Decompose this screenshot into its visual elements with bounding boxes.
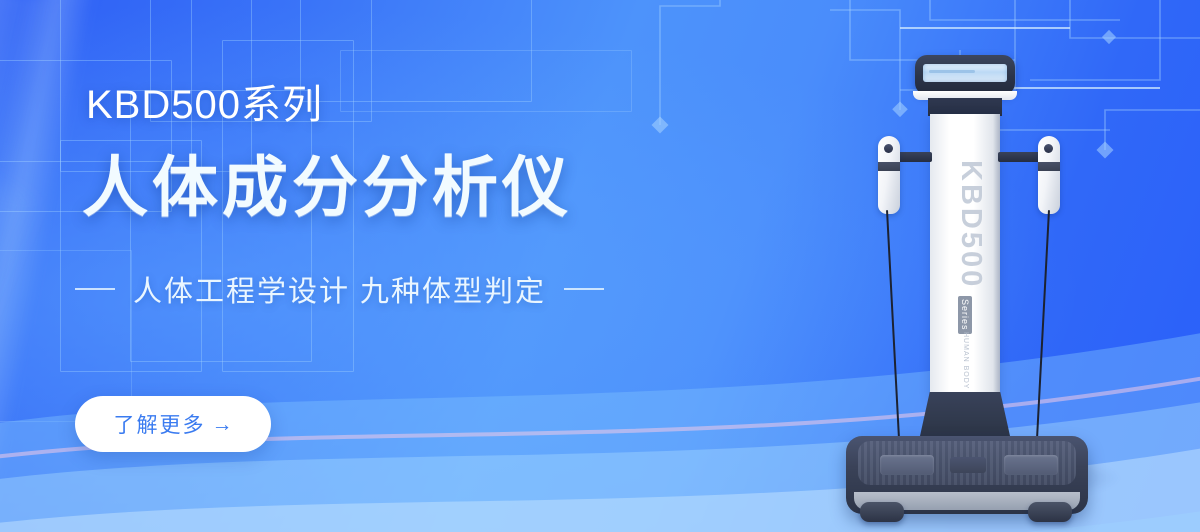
device-base-surface (858, 441, 1076, 485)
handle-electrode-band (1038, 162, 1060, 171)
device-screen-line (929, 70, 975, 73)
foot-electrode-right (1004, 455, 1058, 475)
device-arm-right (998, 152, 1040, 162)
foot-electrode-center (950, 457, 986, 473)
learn-more-label: 了解更多 (114, 409, 206, 439)
page-subtitle: 人体工程学设计 九种体型判定 (133, 268, 546, 310)
device-screen (923, 64, 1007, 82)
handle-button-icon (884, 144, 893, 153)
dash-left-icon (75, 288, 115, 290)
device-column: KBD500 Series HUMAN BODY COMPOSITION ANA… (930, 114, 1000, 399)
device-cable-right (1035, 210, 1050, 458)
device-cable-left (886, 210, 901, 458)
arrow-right-icon: → (212, 414, 233, 435)
learn-more-button[interactable]: 了解更多 → (75, 396, 271, 452)
page-title: 人体成分分析仪 (82, 134, 572, 230)
device-series-badge: Series (958, 296, 972, 334)
device-handle-left (878, 136, 900, 214)
hero-text-block: KBD500系列 人体成分分析仪 人体工程学设计 九种体型判定 了解更多 → (0, 0, 700, 532)
subtitle-row: 人体工程学设计 九种体型判定 (75, 268, 604, 310)
device-display-head (915, 55, 1015, 95)
product-series-label: KBD500系列 (86, 72, 323, 130)
hero-banner: KBD500系列 人体成分分析仪 人体工程学设计 九种体型判定 了解更多 → K… (0, 0, 1200, 532)
device-foot-left (860, 502, 904, 522)
dash-right-icon (564, 288, 604, 290)
device-handle-right (1038, 136, 1060, 214)
handle-electrode-band (878, 162, 900, 171)
body-composition-analyzer-image: KBD500 Series HUMAN BODY COMPOSITION ANA… (820, 40, 1150, 520)
handle-button-icon (1044, 144, 1053, 153)
foot-electrode-left (880, 455, 934, 475)
device-foot-right (1028, 502, 1072, 522)
device-brand-label: KBD500 (954, 160, 987, 289)
